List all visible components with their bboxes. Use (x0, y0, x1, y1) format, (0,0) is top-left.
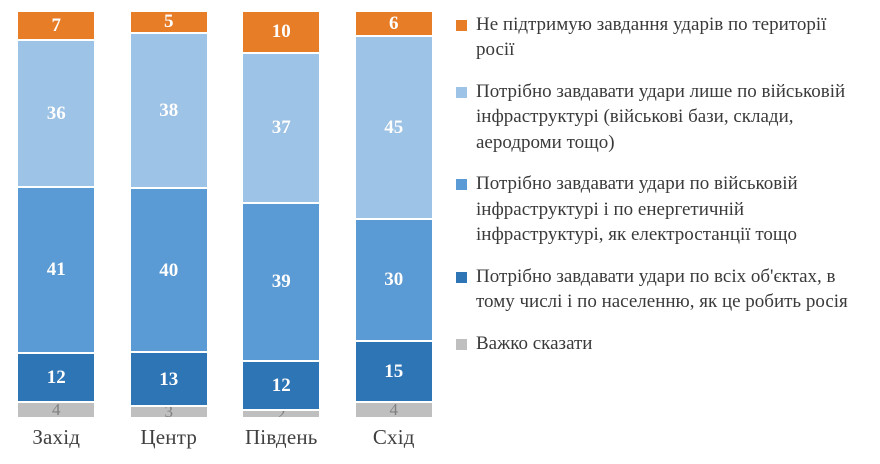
legend-item-label: Потрібно завдавати удари по військовій і… (476, 171, 866, 247)
legend-swatch-dark-blue-icon (456, 272, 467, 283)
bar-segment-value: 6 (389, 14, 399, 33)
legend-item[interactable]: Потрібно завдавати удари по всіх об'єкта… (456, 264, 866, 315)
bar-segment[interactable]: 13 (131, 352, 207, 405)
bar-segment[interactable]: 3 (131, 406, 207, 418)
bar-column: 103739122 (225, 12, 338, 418)
stacked-bar-chart: 736411245384013310373912264530154 ЗахідЦ… (0, 0, 880, 464)
bar-segment-value: 30 (384, 270, 403, 289)
legend-swatch-gray-icon (456, 339, 467, 350)
bar-segment[interactable]: 2 (243, 410, 319, 418)
bar-segment[interactable]: 45 (356, 36, 432, 219)
bar-segment[interactable]: 30 (356, 219, 432, 341)
category-tick-label: Схід (373, 425, 415, 450)
bar-segment-value: 39 (272, 272, 291, 291)
bar-segment[interactable]: 12 (18, 353, 94, 402)
bar-column: 73641124 (0, 12, 113, 418)
bar-segment[interactable]: 40 (131, 188, 207, 352)
legend-item-label: Потрібно завдавати удари лише по військо… (476, 79, 866, 155)
bar-segment-value: 7 (52, 16, 62, 35)
category-axis: ЗахідЦентрПівденьСхід (0, 420, 450, 464)
legend-item[interactable]: Потрібно завдавати удари по військовій і… (456, 171, 866, 247)
bar-segment[interactable]: 6 (356, 12, 432, 36)
category-tick-label: Південь (245, 425, 318, 450)
bar-segment[interactable]: 10 (243, 12, 319, 53)
bar-segment-value: 4 (52, 402, 61, 418)
legend-item[interactable]: Важко сказати (456, 331, 866, 356)
bar-stack: 64530154 (356, 12, 432, 418)
bar-segment-value: 4 (390, 402, 399, 418)
category-tick: Південь (225, 420, 338, 464)
bar-segment-value: 12 (47, 368, 66, 387)
legend-item[interactable]: Потрібно завдавати удари лише по військо… (456, 79, 866, 155)
bar-segment[interactable]: 15 (356, 341, 432, 402)
bar-column: 64530154 (338, 12, 451, 418)
category-tick: Захід (0, 420, 113, 464)
bar-segment[interactable]: 5 (131, 12, 207, 33)
bar-segment[interactable]: 7 (18, 12, 94, 40)
bar-stack: 103739122 (243, 12, 319, 418)
bar-segment-value: 40 (159, 261, 178, 280)
bar-segment[interactable]: 37 (243, 53, 319, 203)
bar-segment-value: 5 (164, 12, 174, 31)
bar-segment-value: 41 (47, 260, 66, 279)
bar-segment-value: 2 (277, 410, 286, 418)
bar-segment-value: 37 (272, 118, 291, 137)
category-tick: Центр (113, 420, 226, 464)
bar-segment-value: 13 (159, 370, 178, 389)
bar-segment-value: 45 (384, 118, 403, 137)
category-tick-label: Захід (32, 425, 80, 450)
category-tick-label: Центр (140, 425, 197, 450)
bar-segment[interactable]: 38 (131, 33, 207, 189)
bar-segment-value: 36 (47, 104, 66, 123)
bar-segment[interactable]: 4 (356, 402, 432, 418)
bar-segment-value: 38 (159, 101, 178, 120)
legend-item-label: Не підтримую завдання ударів по територі… (476, 12, 866, 63)
bar-segment-value: 10 (272, 22, 291, 41)
legend-swatch-medium-blue-icon (456, 179, 467, 190)
bar-segment-value: 3 (165, 406, 174, 418)
bar-segment[interactable]: 39 (243, 203, 319, 361)
chart-legend: Не підтримую завдання ударів по територі… (450, 0, 880, 464)
bar-segment-value: 12 (272, 376, 291, 395)
bar-segment-value: 15 (384, 362, 403, 381)
bar-segment[interactable]: 4 (18, 402, 94, 418)
bar-segment[interactable]: 36 (18, 40, 94, 186)
legend-item[interactable]: Не підтримую завдання ударів по територі… (456, 12, 866, 63)
legend-item-label: Потрібно завдавати удари по всіх об'єкта… (476, 264, 866, 315)
bar-stack: 53840133 (131, 12, 207, 418)
plot-area: 736411245384013310373912264530154 ЗахідЦ… (0, 0, 450, 464)
legend-swatch-orange-icon (456, 20, 467, 31)
legend-item-label: Важко сказати (476, 331, 592, 356)
legend-swatch-light-blue-icon (456, 87, 467, 98)
bar-column: 53840133 (113, 12, 226, 418)
bars-container: 736411245384013310373912264530154 (0, 12, 450, 418)
bar-segment[interactable]: 41 (18, 187, 94, 353)
bar-stack: 73641124 (18, 12, 94, 418)
category-tick: Схід (338, 420, 451, 464)
bar-segment[interactable]: 12 (243, 361, 319, 410)
